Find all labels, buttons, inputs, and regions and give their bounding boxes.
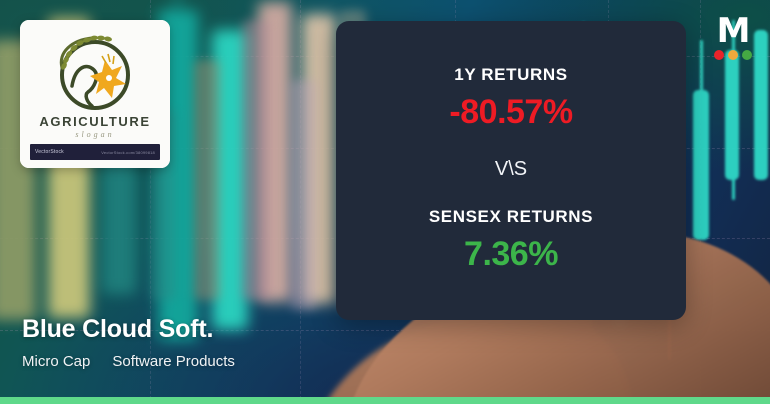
brand-dot-red (714, 50, 724, 60)
brand-dot-green (742, 50, 752, 60)
brand-dots (712, 50, 754, 60)
market-cap-label: Micro Cap (22, 353, 90, 370)
logo-slogan: slogan (20, 130, 170, 139)
brand-dot-orange (728, 50, 738, 60)
watermark-left: VectorStock (35, 149, 64, 155)
logo-watermark-bar: VectorStock VectorStock.com/38099818 (30, 144, 160, 160)
benchmark-returns-label: SENSEX RETURNS (429, 207, 593, 227)
agriculture-wreath-icon (42, 34, 148, 116)
brand-mark-letter: M (712, 16, 754, 46)
company-info: Blue Cloud Soft. Micro Cap Software Prod… (22, 315, 235, 370)
watermark-right: VectorStock.com/38099818 (101, 150, 155, 155)
company-meta: Micro Cap Software Products (22, 353, 235, 370)
bottom-accent-bar (0, 397, 770, 404)
benchmark-returns-value: 7.36% (464, 235, 558, 274)
primary-returns-label: 1Y RETURNS (454, 65, 567, 85)
primary-returns-value: -80.57% (449, 93, 572, 132)
logo-image: AGRICULTURE slogan VectorStock VectorSto… (20, 20, 170, 168)
brand-logo[interactable]: M (712, 16, 754, 60)
versus-separator: V\S (495, 158, 527, 181)
logo-title: AGRICULTURE (20, 114, 170, 129)
company-name: Blue Cloud Soft. (22, 315, 235, 344)
sector-label: Software Products (112, 353, 235, 370)
returns-comparison-card: 1Y RETURNS -80.57% V\S SENSEX RETURNS 7.… (336, 21, 686, 320)
company-logo-card[interactable]: AGRICULTURE slogan VectorStock VectorSto… (20, 20, 170, 168)
